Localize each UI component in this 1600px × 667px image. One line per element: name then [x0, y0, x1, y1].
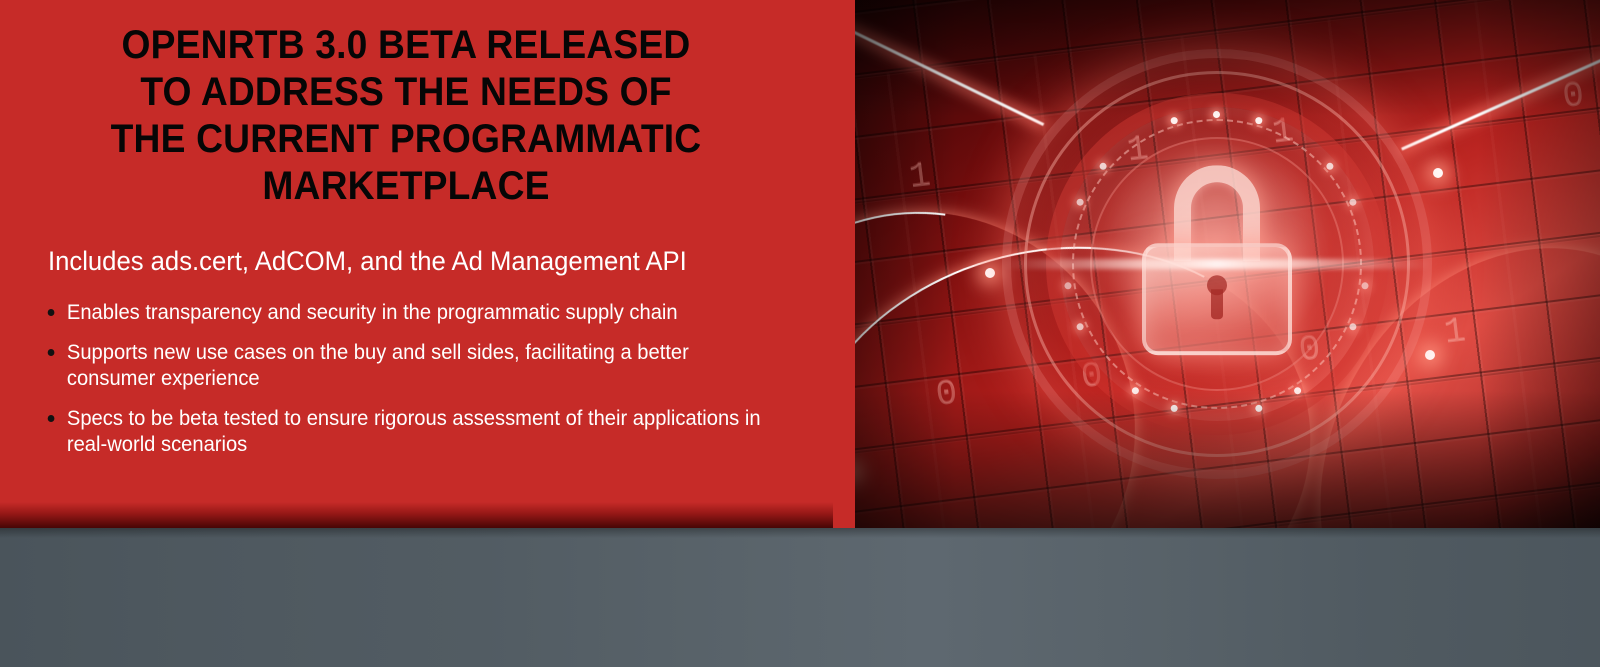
bullet-dot-icon: [48, 349, 55, 356]
page-title: OPENRTB 3.0 BETA RELEASED TO ADDRESS THE…: [28, 22, 783, 210]
list-item-text: Enables transparency and security in the…: [67, 301, 678, 324]
promotional-banner: OPENRTB 3.0 BETA RELEASED TO ADDRESS THE…: [0, 0, 1600, 667]
call-to-action-bar: LEARN MORE Read the Draft Documents in P…: [0, 528, 1600, 667]
hero-image: 0 1 1 1 0 1 1 0 0 0 1 1 0 0 0 1 1 0 1 1 …: [833, 0, 1600, 528]
feature-bullet-list: Enables transparency and security in the…: [40, 300, 800, 472]
left-content-panel: OPENRTB 3.0 BETA RELEASED TO ADDRESS THE…: [0, 0, 833, 528]
list-item: Supports new use cases on the buy and se…: [40, 340, 770, 392]
bullet-dot-icon: [48, 415, 55, 422]
list-item-text: Specs to be beta tested to ensure rigoro…: [67, 407, 761, 456]
hero-vignette: [833, 0, 1600, 528]
hero-left-red-edge: [833, 0, 855, 528]
headline-line-1: OPENRTB 3.0 BETA RELEASED: [28, 22, 783, 69]
list-item-text: Supports new use cases on the buy and se…: [67, 341, 689, 390]
headline-line-3: THE CURRENT PROGRAMMATIC: [28, 116, 783, 163]
headline-line-2: TO ADDRESS THE NEEDS OF: [28, 69, 783, 116]
list-item: Enables transparency and security in the…: [40, 300, 770, 326]
list-item: Specs to be beta tested to ensure rigoro…: [40, 406, 770, 458]
headline-line-4: MARKETPLACE: [28, 163, 783, 210]
subheading: Includes ads.cert, AdCOM, and the Ad Man…: [48, 245, 751, 277]
bullet-dot-icon: [48, 309, 55, 316]
